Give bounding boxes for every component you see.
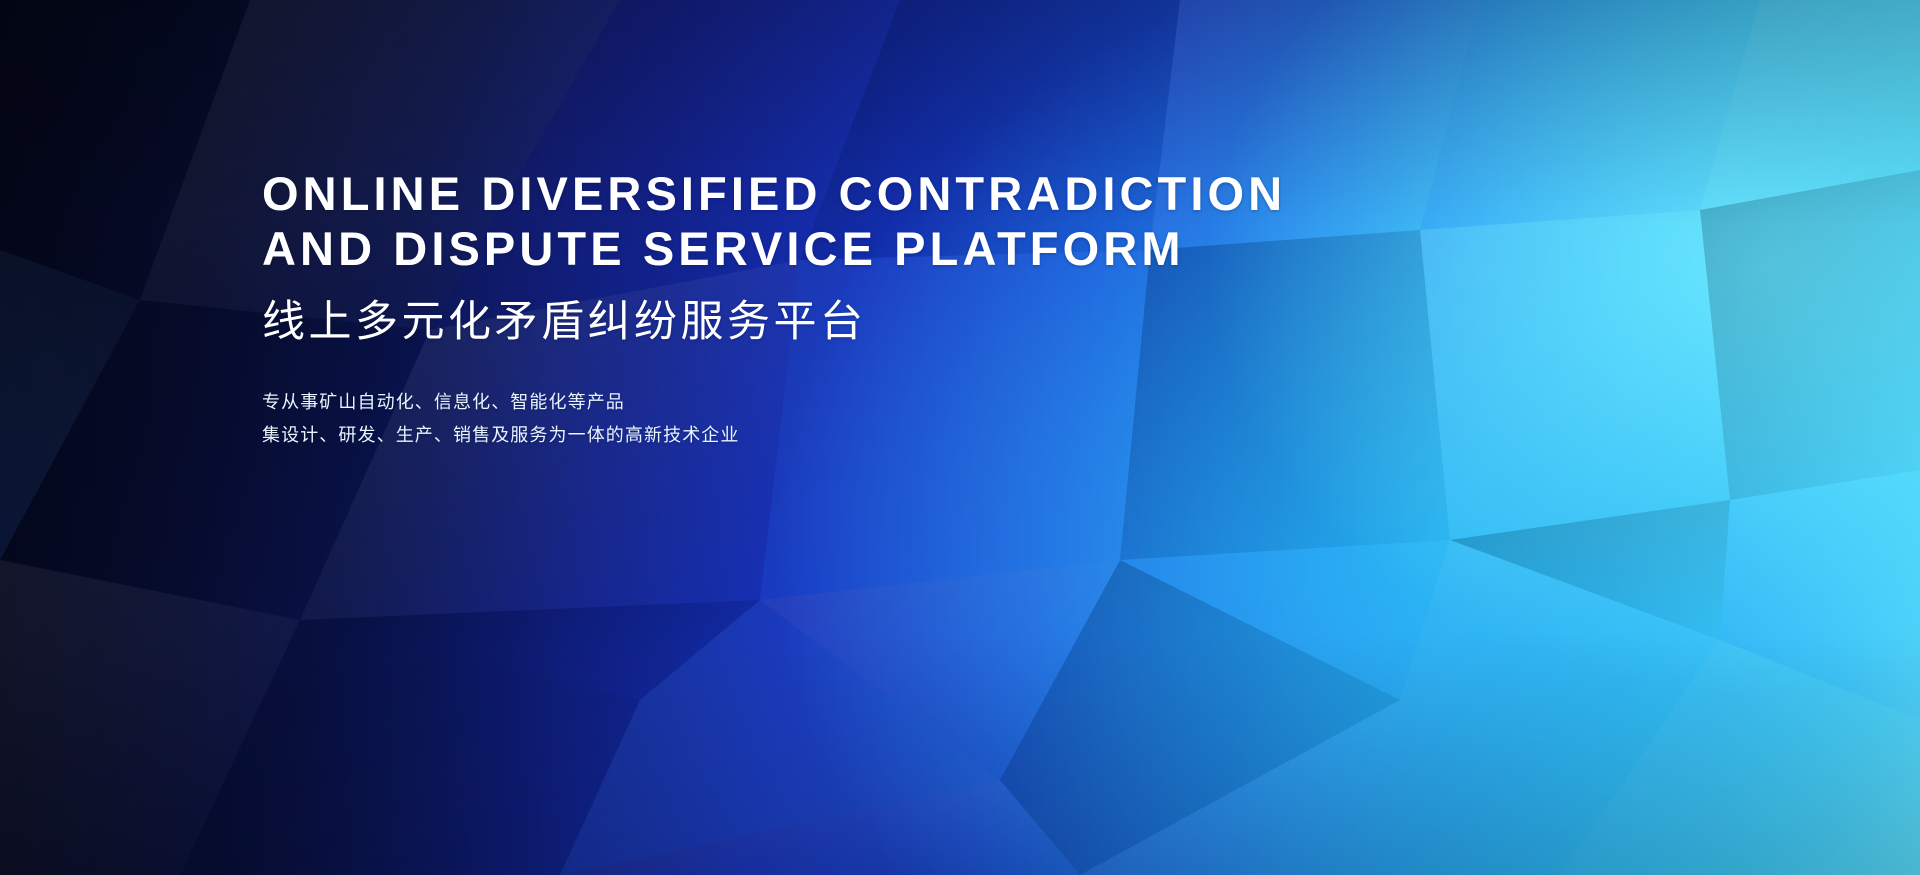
headline-english-line2: AND DISPUTE SERVICE PLATFORM xyxy=(262,221,1522,276)
headline-english-line1: ONLINE DIVERSIFIED CONTRADICTION xyxy=(262,166,1522,221)
hero-subtext-line2: 集设计、研发、生产、销售及服务为一体的高新技术企业 xyxy=(262,419,1522,452)
headline-chinese: 线上多元化矛盾纠纷服务平台 xyxy=(262,296,1522,348)
hero-subtext-line1: 专从事矿山自动化、信息化、智能化等产品 xyxy=(262,386,1522,419)
headline-english: ONLINE DIVERSIFIED CONTRADICTION AND DIS… xyxy=(262,166,1522,276)
hero-subtext: 专从事矿山自动化、信息化、智能化等产品 集设计、研发、生产、销售及服务为一体的高… xyxy=(262,386,1522,452)
hero-content: ONLINE DIVERSIFIED CONTRADICTION AND DIS… xyxy=(262,166,1522,452)
hero-banner: ONLINE DIVERSIFIED CONTRADICTION AND DIS… xyxy=(0,0,1920,875)
